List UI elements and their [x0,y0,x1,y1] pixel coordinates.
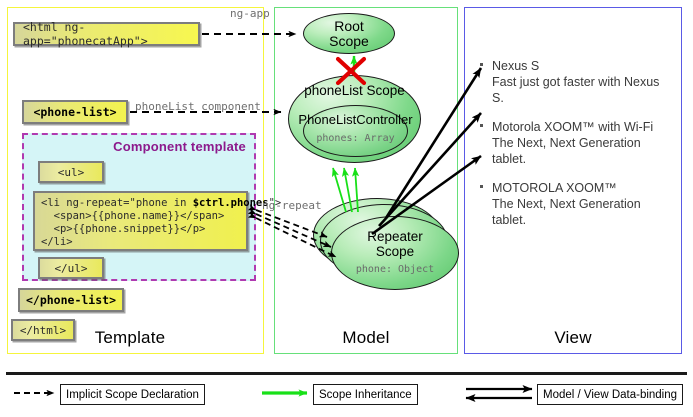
code-line-1-pre: <li ng-repeat="phone in [41,197,193,209]
code-text: </phone-list> [26,293,116,307]
code-box-phone-list-close: </phone-list> [18,288,124,312]
code-box-phone-list-open: <phone-list> [22,100,128,124]
legend-model-view-data-binding: Model / View Data-binding [537,384,683,405]
repeater-scope-stack: Repeater Scope phone: Object [313,198,459,290]
phonelist-scope-meta: phones: Array [316,133,394,144]
edge-label-ng-app: ng-app [230,7,270,20]
component-template-title: Component template [113,139,246,154]
phonelist-controller-label: PhoneListController [298,112,412,127]
legend-implicit-scope-declaration: Implicit Scope Declaration [60,384,205,405]
root-scope-ellipse: Root Scope [303,13,395,54]
phone-name: Nexus S [492,58,673,74]
phone-snippet: The Next, Next Generation tablet. [492,135,673,167]
edge-label-phonelist-component: phoneList component [135,100,261,113]
root-scope-line2: Scope [329,34,369,49]
phonelist-scope-ellipse: phoneList Scope PhoneListController phon… [288,75,421,163]
view-phone-list: Nexus S Fast just got faster with Nexus … [478,58,673,241]
panel-view-label: View [465,328,681,348]
legend-scope-inheritance: Scope Inheritance [313,384,418,405]
repeater-scope-ellipse-front: Repeater Scope phone: Object [331,216,459,290]
legend-divider [6,372,687,375]
diagram-canvas: Template Model View Component template <… [0,0,693,417]
list-item: Motorola XOOM™ with Wi-Fi The Next, Next… [478,119,673,167]
code-box-ng-repeat-li: <li ng-repeat="phone in $ctrl.phones"> <… [33,191,248,251]
code-text: <html ng-app="phonecatApp"> [23,20,198,48]
code-line-3: <p>{{phone.snippet}}</p> [41,223,205,235]
code-box-html-open: <html ng-app="phonecatApp"> [13,22,200,46]
legend-icon-double-arrow [466,389,532,398]
phonelist-scope-title: phoneList Scope [304,83,405,98]
code-line-1-keyword: $ctrl.phones [193,197,269,209]
panel-model: Model [274,7,458,354]
root-scope-line1: Root [334,19,364,34]
code-line-2: <span>{{phone.name}}</span> [41,210,224,222]
phone-name: Motorola XOOM™ with Wi-Fi [492,119,673,135]
panel-model-label: Model [275,328,457,348]
code-text: <ul> [58,166,85,179]
phone-name: MOTOROLA XOOM™ [492,180,673,196]
code-block: <li ng-repeat="phone in $ctrl.phones"> <… [41,197,281,249]
phone-snippet: The Next, Next Generation tablet. [492,196,673,228]
bullet-icon [480,124,483,127]
bullet-icon [480,185,483,188]
code-text: <phone-list> [33,105,116,119]
list-item: Nexus S Fast just got faster with Nexus … [478,58,673,106]
code-text: </html> [20,324,66,337]
code-box-ul-open: <ul> [38,161,104,183]
bullet-icon [480,63,483,66]
phonelist-controller-ellipse: PhoneListController phones: Array [303,105,408,157]
code-box-ul-close: </ul> [38,257,104,279]
list-item: MOTOROLA XOOM™ The Next, Next Generation… [478,180,673,228]
repeater-scope-meta: phone: Object [356,264,434,275]
code-text: </ul> [54,262,87,275]
code-line-4: </li> [41,236,73,248]
repeater-scope-line2: Scope [376,244,414,259]
phone-snippet: Fast just got faster with Nexus S. [492,74,673,106]
repeater-scope-line1: Repeater [367,229,423,244]
code-box-html-close: </html> [11,319,75,341]
